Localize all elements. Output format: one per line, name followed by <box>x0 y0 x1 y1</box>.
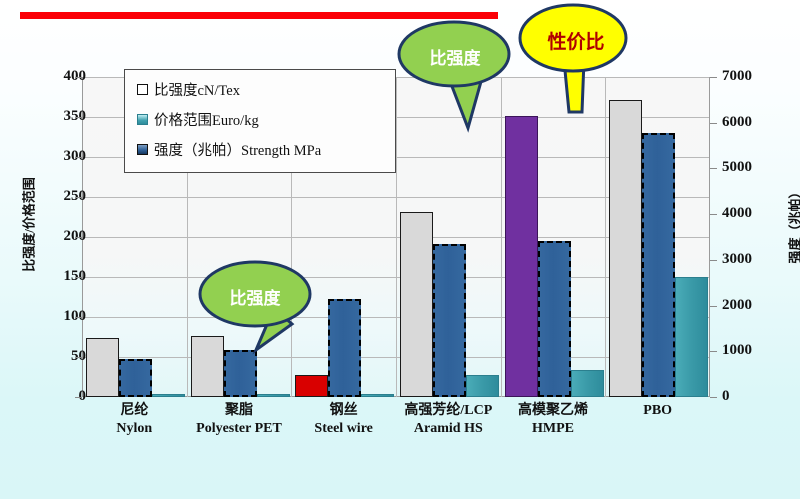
bar-specific-strength <box>505 116 538 397</box>
callout-text: 比强度 <box>196 284 314 309</box>
bar-strength-mpa <box>328 299 361 397</box>
legend-item-strength-mpa: 强度（兆帕）Strength MPa <box>137 139 385 160</box>
x-axis-category-label: 高模聚乙烯HMPE <box>501 402 606 437</box>
legend-item-specific-strength: 比强度cN/Tex <box>137 79 385 100</box>
x-category-cn: PBO <box>605 402 710 420</box>
legend-label: 价格范围Euro/kg <box>154 109 259 130</box>
oval-callout-icon <box>196 258 314 378</box>
bar-specific-strength <box>86 338 119 397</box>
callout-specific-strength-steel: 比强度 <box>196 258 314 378</box>
y-axis-left-tick-mark <box>75 237 82 238</box>
x-category-en: Nylon <box>82 420 187 438</box>
y-axis-right-tick-mark <box>710 77 717 78</box>
square-blue-swatch-icon <box>137 144 148 155</box>
bar-price-range <box>257 394 290 397</box>
y-axis-right-tick: 6000 <box>722 115 792 130</box>
y-axis-right-tick-mark <box>710 260 717 261</box>
y-axis-left-tick-mark <box>75 277 82 278</box>
x-axis-category-label: 尼纶Nylon <box>82 402 187 437</box>
y-axis-left-title: 比强度/价格范围 <box>19 135 38 315</box>
bar-price-range <box>466 375 499 397</box>
y-axis-left-tick-mark <box>75 157 82 158</box>
callout-text: 性价比 <box>516 27 636 54</box>
x-category-en: Steel wire <box>291 420 396 438</box>
x-category-cn: 钢丝 <box>291 402 396 420</box>
bar-price-range <box>361 394 394 397</box>
y-axis-left-tick-mark <box>75 397 82 398</box>
x-axis-category-label: 聚脂Polyester PET <box>187 402 292 437</box>
y-axis-right-tick-mark <box>710 168 717 169</box>
callout-specific-strength-hmpe: 比强度 <box>396 16 514 134</box>
y-axis-right-tick: 4000 <box>722 206 792 221</box>
callout-text: 比强度 <box>396 44 514 69</box>
y-axis-left-tick-mark <box>75 117 82 118</box>
y-axis-left-tick-mark <box>75 197 82 198</box>
bar-strength-mpa <box>433 244 466 397</box>
x-category-cn: 聚脂 <box>187 402 292 420</box>
x-axis-category-label: 钢丝Steel wire <box>291 402 396 437</box>
x-category-en: Polyester PET <box>187 420 292 438</box>
bar-group <box>501 77 606 397</box>
x-category-en: Aramid HS <box>396 420 501 438</box>
y-axis-right-tick-mark <box>710 351 717 352</box>
oval-callout-icon <box>396 16 514 134</box>
x-axis-category-label: 高强芳纶/LCPAramid HS <box>396 402 501 437</box>
y-axis-right-tick-mark <box>710 214 717 215</box>
y-axis-right-tick: 0 <box>722 389 792 404</box>
bar-specific-strength <box>295 375 328 397</box>
y-axis-right-title: 强度（兆帕） <box>785 135 800 315</box>
bar-strength-mpa <box>642 133 675 397</box>
bar-strength-mpa <box>119 359 152 397</box>
callout-cost-performance: 性价比 <box>516 2 636 114</box>
legend-label: 强度（兆帕）Strength MPa <box>154 139 321 160</box>
x-category-cn: 高强芳纶/LCP <box>396 402 501 420</box>
x-category-cn: 高模聚乙烯 <box>501 402 606 420</box>
x-axis-labels: 尼纶Nylon聚脂Polyester PET钢丝Steel wire高强芳纶/L… <box>82 402 710 457</box>
y-axis-right-tick: 3000 <box>722 252 792 267</box>
y-axis-right-tick-mark <box>710 306 717 307</box>
y-axis-right-tick: 1000 <box>722 343 792 358</box>
y-axis-right-tick: 2000 <box>722 298 792 313</box>
y-axis-right-tick-mark <box>710 397 717 398</box>
legend-item-price-range: 价格范围Euro/kg <box>137 109 385 130</box>
y-axis-left-tick-mark <box>75 317 82 318</box>
bar-specific-strength <box>400 212 433 397</box>
x-category-cn: 尼纶 <box>82 402 187 420</box>
y-axis-right-tick-mark <box>710 123 717 124</box>
square-outline-swatch-icon <box>137 84 148 95</box>
y-axis-right-tick: 7000 <box>722 69 792 84</box>
bar-price-range <box>571 370 604 397</box>
legend-label: 比强度cN/Tex <box>154 79 240 100</box>
y-axis-left-tick-mark <box>75 357 82 358</box>
x-axis-category-label: PBO <box>605 402 710 420</box>
bar-price-range <box>675 277 708 397</box>
y-axis-left-tick-mark <box>75 77 82 78</box>
square-teal-swatch-icon <box>137 114 148 125</box>
oval-callout-icon <box>516 2 636 114</box>
chart-legend: 比强度cN/Tex 价格范围Euro/kg 强度（兆帕）Strength MPa <box>124 69 396 173</box>
y-axis-right-tick: 5000 <box>722 160 792 175</box>
bar-strength-mpa <box>538 241 571 397</box>
bar-specific-strength <box>609 100 642 397</box>
x-category-en: HMPE <box>501 420 606 438</box>
slide-canvas: 0501001502002503003504000100020003000400… <box>0 0 800 499</box>
bar-price-range <box>152 394 185 397</box>
bar-group <box>605 77 710 397</box>
group-separator <box>605 77 606 397</box>
